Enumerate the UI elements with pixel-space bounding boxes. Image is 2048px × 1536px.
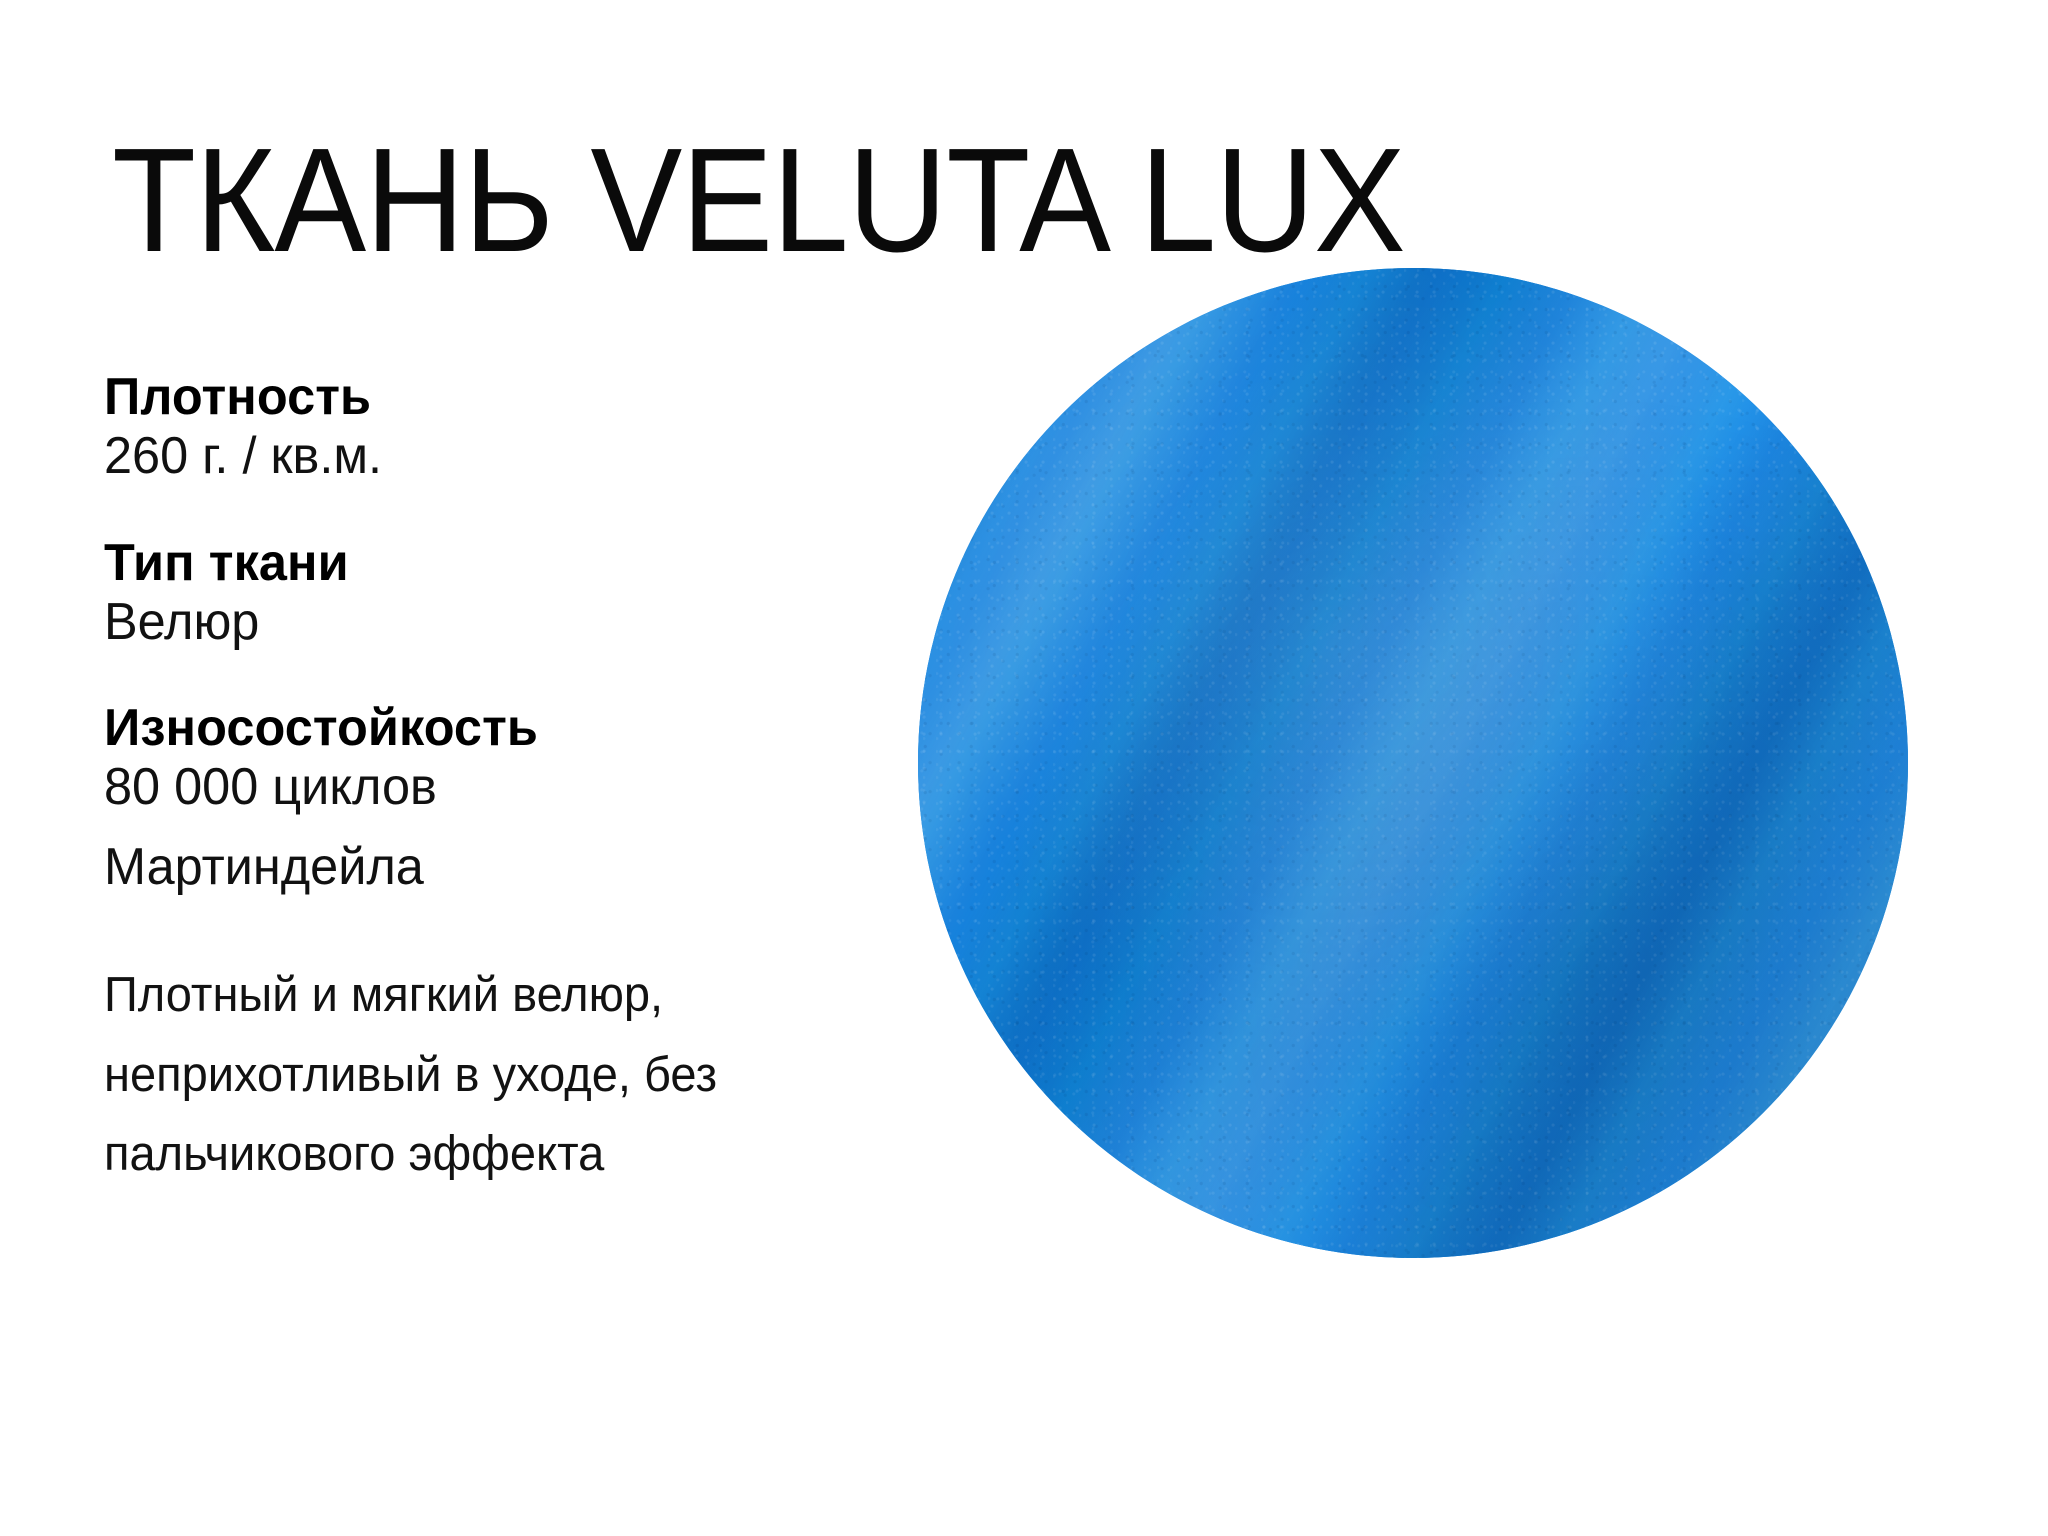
spec-label-density: Плотность [104, 368, 919, 426]
spec-value-wear-resistance-cycles: 80 000 циклов [104, 757, 919, 818]
spec-item-wear-resistance: Износостойкость 80 000 циклов Мартиндейл… [104, 699, 944, 898]
spec-item-density: Плотность 260 г. / кв.м. [104, 368, 944, 488]
spec-value-fabric-type: Велюр [104, 592, 919, 653]
page-title: ТКАНЬ VELUTA LUX [112, 127, 1860, 275]
spec-value-wear-resistance-standard: Мартиндейла [104, 837, 919, 898]
description-line-3: пальчикового эффекта [104, 1115, 901, 1194]
spec-value-density: 260 г. / кв.м. [104, 426, 919, 487]
description-line-1: Плотный и мягкий велюр, [104, 956, 901, 1035]
poster-canvas: ТКАНЬ VELUTA LUX Плотность 260 г. / кв.м… [0, 0, 2048, 1536]
description-line-2: неприхотливый в уходе, без [104, 1036, 901, 1115]
spec-item-fabric-type: Тип ткани Велюр [104, 534, 944, 654]
spec-label-wear-resistance: Износостойкость [104, 699, 919, 757]
spec-label-fabric-type: Тип ткани [104, 534, 919, 592]
fabric-swatch-circle [918, 268, 1908, 1258]
fabric-description: Плотный и мягкий велюр, неприхотливый в … [104, 956, 901, 1194]
specification-list: Плотность 260 г. / кв.м. Тип ткани Велюр… [104, 368, 944, 1194]
swatch-vignette [918, 268, 1908, 1258]
